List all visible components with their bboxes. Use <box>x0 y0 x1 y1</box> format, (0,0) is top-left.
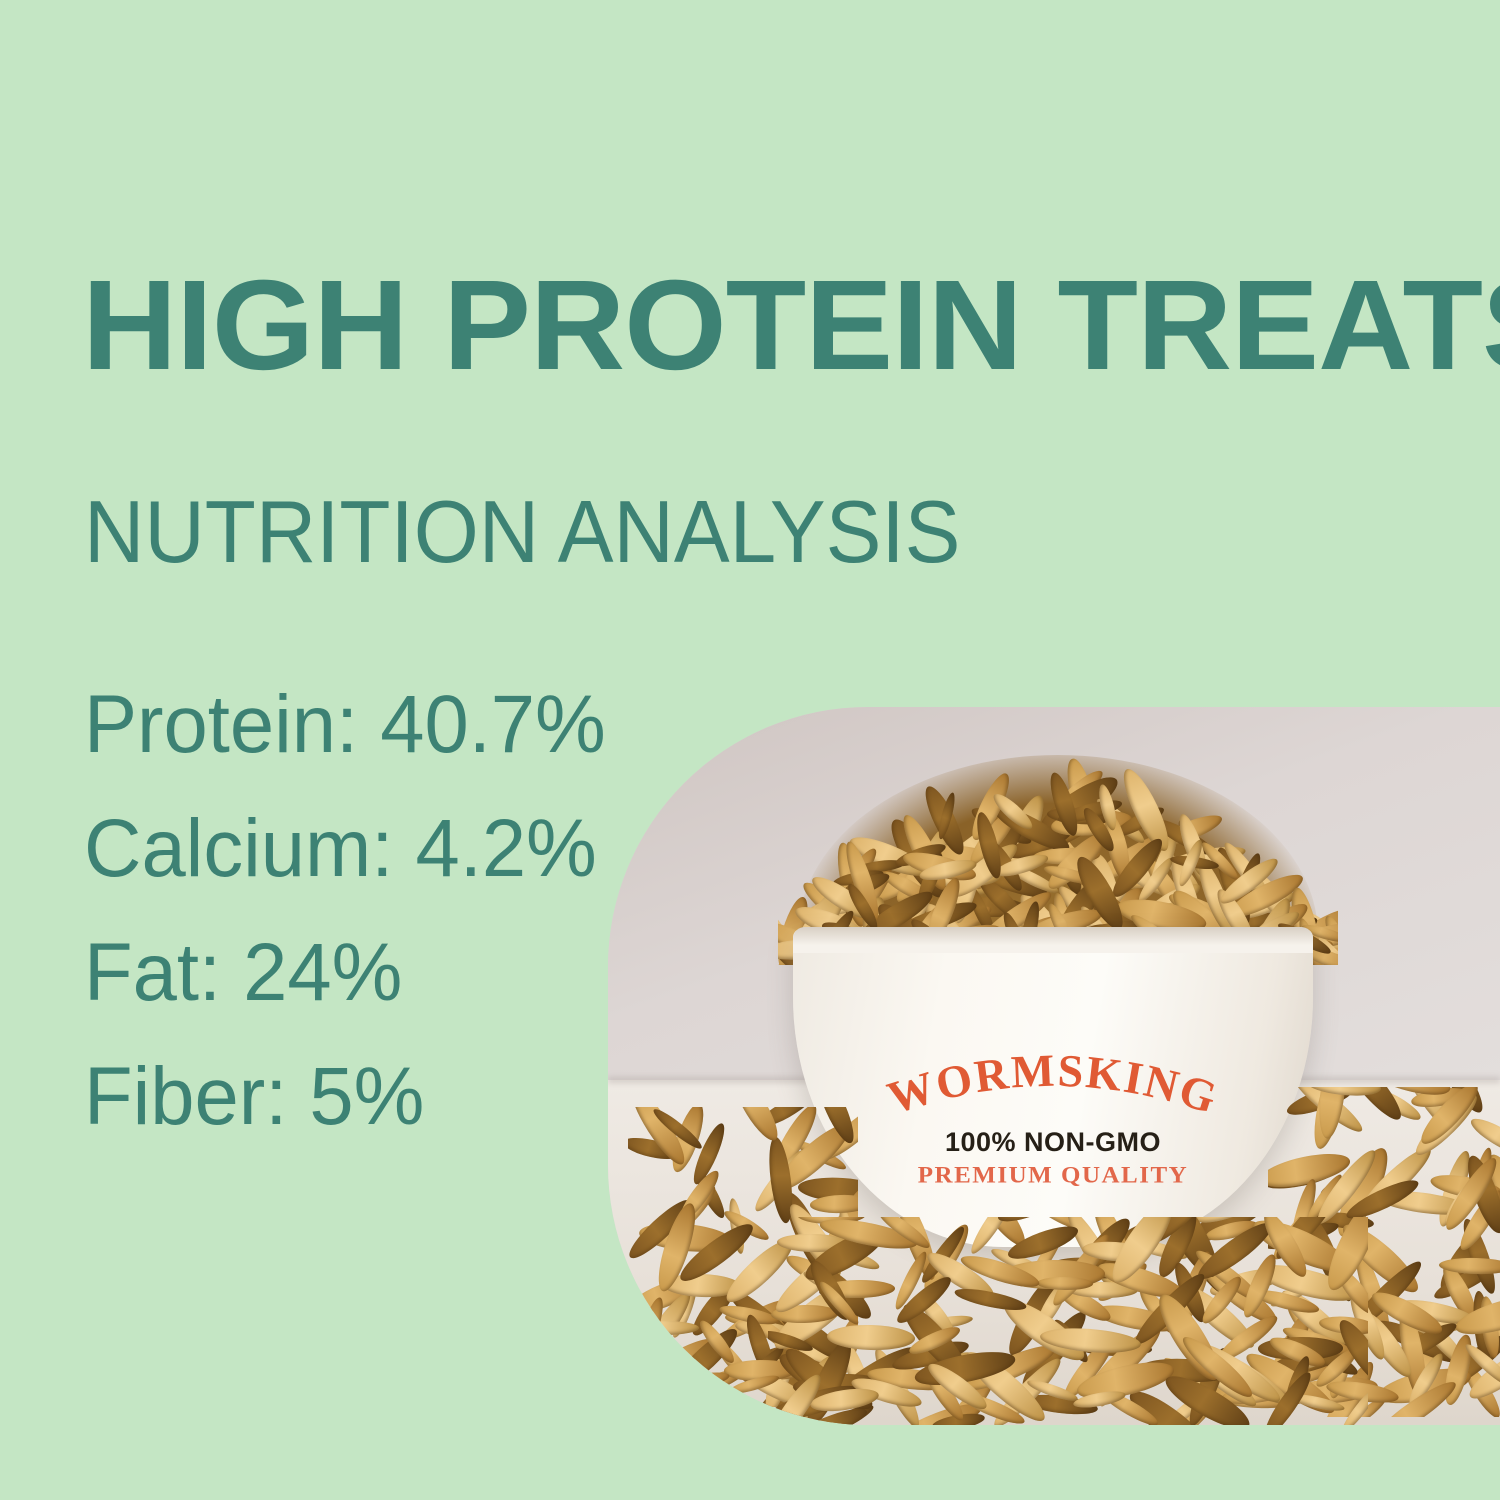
brand-wordmark: WORMSKING <box>858 1045 1248 1137</box>
nutrition-item-protein: Protein: 40.7% <box>84 663 606 787</box>
scattered-larvae-front <box>768 1217 1368 1425</box>
svg-text:WORMSKING: WORMSKING <box>882 1045 1225 1124</box>
premium-quality-tagline: PREMIUM QUALITY <box>793 1163 1313 1189</box>
non-gmo-claim: 100% NON-GMO <box>793 1127 1313 1158</box>
nutrition-item-fiber: Fiber: 5% <box>84 1035 606 1159</box>
promo-graphic: HIGH PROTEIN TREATS NUTRITION ANALYSIS P… <box>0 0 1500 1500</box>
bowl-label: WORMSKING 100% NON-GMO PREMIUM QUALITY <box>793 1045 1313 1190</box>
product-photo: WORMSKING 100% NON-GMO PREMIUM QUALITY <box>608 707 1500 1425</box>
larva <box>1338 1384 1368 1425</box>
nutrition-item-fat: Fat: 24% <box>84 911 606 1035</box>
page-title: HIGH PROTEIN TREATS <box>82 262 1500 390</box>
nutrition-item-calcium: Calcium: 4.2% <box>84 787 606 911</box>
bowl-rim <box>793 927 1313 953</box>
nutrition-list: Protein: 40.7% Calcium: 4.2% Fat: 24% Fi… <box>84 663 622 1159</box>
brand-name-text: WORMSKING <box>882 1045 1225 1124</box>
subtitle: NUTRITION ANALYSIS <box>84 488 960 576</box>
